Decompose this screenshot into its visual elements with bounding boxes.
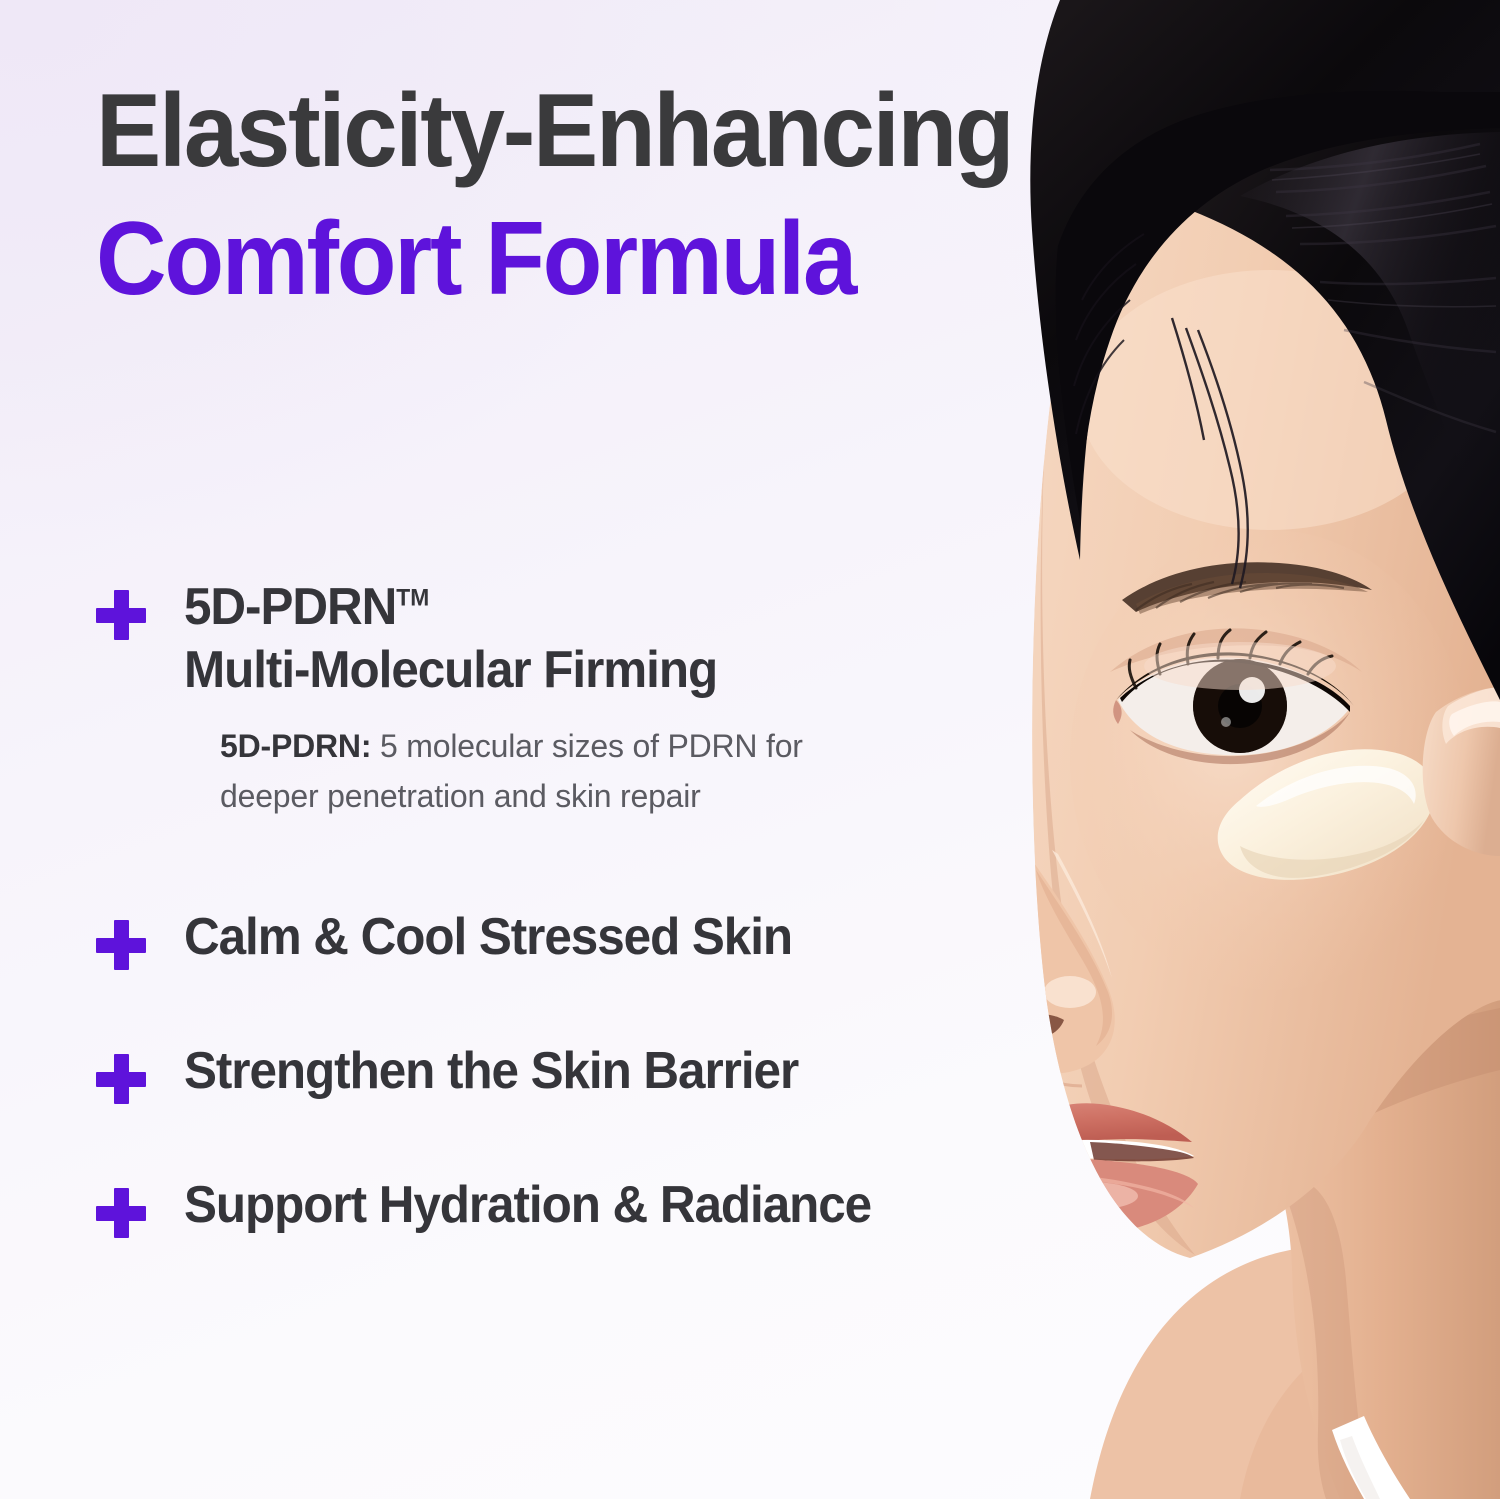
plus-icon: [96, 1188, 146, 1238]
benefit-title-line-1: 5D-PDRNTM: [184, 576, 717, 639]
benefit-item-skin-barrier: Strengthen the Skin Barrier: [96, 1040, 1106, 1104]
plus-icon: [96, 1054, 146, 1104]
benefit-item-5d-pdrn: 5D-PDRNTM Multi-Molecular Firming: [96, 576, 1106, 703]
headline-line-1: Elasticity-Enhancing: [96, 78, 1177, 184]
spacer: [96, 970, 1106, 1040]
benefit-description-label: 5D-PDRN:: [220, 728, 371, 764]
benefit-title-text: 5D-PDRN: [184, 578, 396, 636]
spacer: [96, 822, 1106, 906]
benefits-list: 5D-PDRNTM Multi-Molecular Firming 5D-PDR…: [96, 576, 1106, 1238]
benefit-item-calm-cool: Calm & Cool Stressed Skin: [96, 906, 1106, 970]
benefit-description: 5D-PDRN: 5 molecular sizes of PDRN for d…: [220, 721, 900, 822]
trademark-symbol: TM: [396, 585, 429, 612]
plus-icon: [96, 590, 146, 640]
benefit-title: Support Hydration & Radiance: [184, 1174, 871, 1237]
benefit-title: Strengthen the Skin Barrier: [184, 1040, 798, 1103]
page-title: Elasticity-Enhancing Comfort Formula: [96, 78, 1246, 312]
benefit-title-line-2: Multi-Molecular Firming: [184, 639, 717, 702]
headline-line-2: Comfort Formula: [96, 206, 1177, 312]
plus-icon: [96, 920, 146, 970]
spacer: [96, 1104, 1106, 1174]
benefit-title: Calm & Cool Stressed Skin: [184, 906, 792, 969]
benefit-item-hydration-radiance: Support Hydration & Radiance: [96, 1174, 1106, 1238]
benefit-text-block: 5D-PDRNTM Multi-Molecular Firming: [184, 576, 745, 703]
